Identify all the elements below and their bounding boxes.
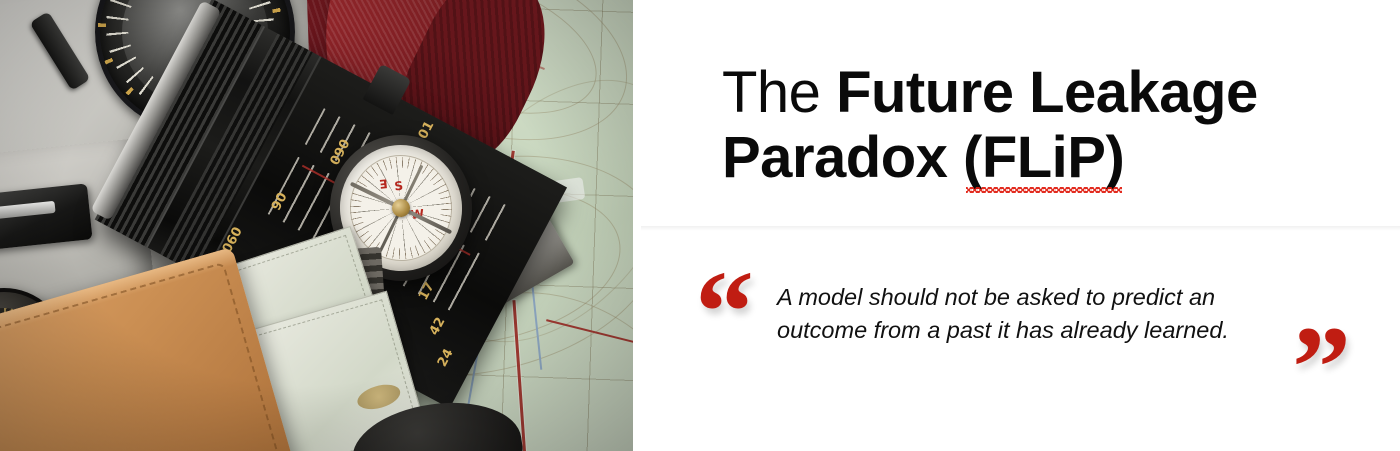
title-section: The Future LeakageParadox (FLiP)	[633, 0, 1400, 227]
title-acronym-wrapper: (FLiP)	[963, 126, 1124, 191]
title-bold-line-1: Future Leakage	[836, 60, 1258, 125]
page-title: The Future LeakageParadox (FLiP)	[722, 61, 1362, 191]
compass-point-east: E	[379, 176, 389, 191]
content-panel: The Future LeakageParadox (FLiP) “ A mod…	[633, 0, 1400, 451]
pull-quote-text: A model should not be asked to predict a…	[777, 281, 1287, 348]
quote-line-1: A model should not be asked to predict a…	[777, 284, 1215, 310]
close-quote-icon: ”	[1292, 309, 1351, 427]
pull-quote-section: “ A model should not be asked to predict…	[633, 231, 1400, 451]
article-header-banner: 01 090 90 060 10 17 42 24 N E S W	[0, 0, 1400, 451]
spellcheck-squiggle-underline	[966, 187, 1122, 193]
title-bold-line-2: Paradox	[722, 125, 963, 190]
title-acronym: (FLiP)	[963, 125, 1124, 190]
hero-photo: 01 090 90 060 10 17 42 24 N E S W	[0, 0, 633, 451]
quote-line-2: outcome from a past it has already learn…	[777, 317, 1229, 343]
open-quote-icon: “	[695, 253, 754, 371]
compass-point-south: S	[394, 179, 404, 194]
title-lead-word: The	[722, 60, 836, 125]
